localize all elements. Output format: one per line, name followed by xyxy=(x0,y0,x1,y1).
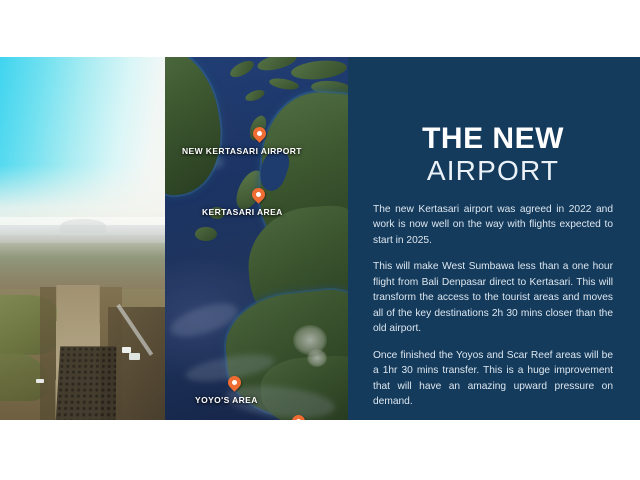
text-panel: THE NEW AIRPORT The new Kertasari airpor… xyxy=(348,57,640,420)
photo-runway-edge-left xyxy=(40,287,56,420)
paragraph: Once finished the Yoyos and Scar Reef ar… xyxy=(373,348,613,410)
map-highland xyxy=(307,349,327,367)
title-line-secondary: AIRPORT xyxy=(373,155,613,186)
paragraph: The new Kertasari airport was agreed in … xyxy=(373,202,613,249)
photo-dark-earth-field xyxy=(108,307,165,420)
map-label-yoyos-area: YOYO'S AREA xyxy=(195,395,258,405)
aerial-photo-panel xyxy=(0,57,165,420)
title-line-primary: THE NEW xyxy=(373,123,613,155)
satellite-map-panel[interactable]: NEW KERTASARI AIRPORT KERTASARI AREA YOY… xyxy=(165,57,348,420)
photo-vehicle xyxy=(36,379,44,383)
photo-earthworks-grid xyxy=(56,346,117,420)
map-label-kertasari-area: KERTASARI AREA xyxy=(202,207,283,217)
photo-vehicle xyxy=(129,353,140,360)
photo-sky xyxy=(0,57,165,235)
map-island xyxy=(195,227,217,241)
slide-container: NEW KERTASARI AIRPORT KERTASARI AREA YOY… xyxy=(0,57,640,420)
page-title: THE NEW AIRPORT xyxy=(373,57,613,187)
body-copy: The new Kertasari airport was agreed in … xyxy=(373,202,613,410)
paragraph: This will make West Sumbawa less than a … xyxy=(373,259,613,337)
map-label-new-kertasari-airport: NEW KERTASARI AIRPORT xyxy=(182,146,302,156)
